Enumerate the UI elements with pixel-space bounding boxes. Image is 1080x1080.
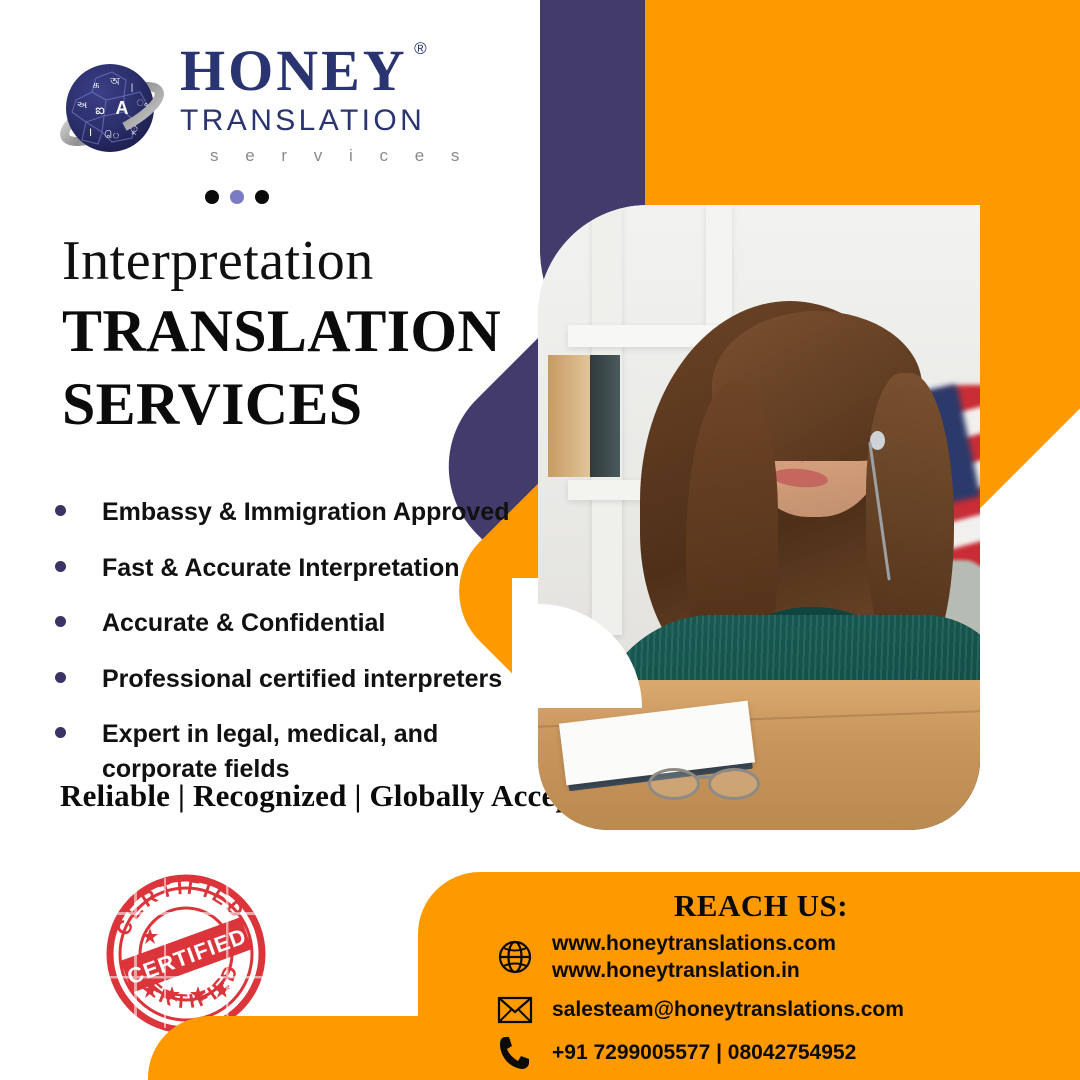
- earphone-icon: [870, 431, 885, 450]
- logo-name-primary: HONEY ®: [180, 42, 408, 100]
- bullet-dot-icon: [55, 505, 66, 516]
- svg-text:A: A: [116, 98, 129, 118]
- dot-2: [230, 190, 244, 204]
- svg-text:ఐ: ఐ: [95, 102, 104, 117]
- globe-icon: [492, 939, 538, 975]
- poster-canvas: க অ | અ ఐ A ം । ெ ু HONEY ® TRANSLATION: [0, 0, 1080, 1080]
- list-item: Accurate & Confidential: [55, 606, 555, 641]
- contact-row-email[interactable]: salesteam@honeytranslations.com: [492, 995, 1062, 1025]
- tagline: Reliable | Recognized | Globally Accepte…: [60, 778, 615, 814]
- contact-panel: REACH US: www.honeytranslations.com www.…: [418, 872, 1080, 1080]
- white-cutout-right: [985, 560, 1080, 760]
- brand-logo: க অ | અ ఐ A ം । ெ ু HONEY ® TRANSLATION: [52, 42, 472, 192]
- certified-stamp: CERTIFIED CERTIFIED CERTIFIED: [104, 872, 268, 1036]
- phone-text: +91 7299005577 | 08042754952: [552, 1039, 856, 1066]
- logo-wordmark: HONEY ® TRANSLATION s e r v i c e s: [180, 42, 470, 166]
- headline-block: Interpretation TRANSLATION SERVICES: [62, 232, 532, 436]
- svg-text:ெ: ெ: [104, 130, 119, 141]
- website-line-2[interactable]: www.honeytranslation.in: [552, 957, 836, 984]
- website-text: www.honeytranslations.com www.honeytrans…: [552, 930, 836, 985]
- logo-name-primary-text: HONEY: [180, 38, 408, 103]
- book-object: [548, 355, 590, 477]
- phone-numbers[interactable]: +91 7299005577 | 08042754952: [552, 1039, 856, 1066]
- contact-row-phone[interactable]: +91 7299005577 | 08042754952: [492, 1035, 1062, 1071]
- list-item: Professional certified interpreters: [55, 662, 555, 697]
- bullet-dot-icon: [55, 561, 66, 572]
- logo-name-secondary: TRANSLATION: [180, 106, 470, 136]
- svg-text:ം: ം: [137, 98, 148, 108]
- decorative-dots: [205, 190, 269, 204]
- svg-text:।: ।: [88, 125, 93, 139]
- headline-script-line: Interpretation: [62, 232, 532, 291]
- list-item: Embassy & Immigration Approved: [55, 495, 555, 530]
- bullet-dot-icon: [55, 672, 66, 683]
- bullet-dot-icon: [55, 616, 66, 627]
- svg-text:க: க: [92, 79, 99, 91]
- svg-text:|: |: [131, 82, 133, 92]
- hero-photo: [538, 205, 980, 830]
- svg-text:અ: અ: [77, 100, 88, 111]
- feature-label: Professional certified interpreters: [102, 662, 502, 697]
- feature-label: Expert in legal, medical, and corporate …: [102, 717, 442, 786]
- feature-label: Accurate & Confidential: [102, 606, 385, 641]
- website-line-1[interactable]: www.honeytranslations.com: [552, 930, 836, 957]
- registered-trademark-icon: ®: [414, 40, 430, 57]
- book-object: [590, 355, 620, 477]
- svg-text:অ: অ: [109, 76, 120, 88]
- dot-3: [255, 190, 269, 204]
- phone-icon: [492, 1035, 538, 1071]
- headline-bold-line-1: TRANSLATION: [62, 299, 532, 364]
- email-address[interactable]: salesteam@honeytranslations.com: [552, 996, 904, 1023]
- feature-list: Embassy & Immigration Approved Fast & Ac…: [55, 495, 555, 807]
- headline-bold-line-2: SERVICES: [62, 372, 532, 437]
- list-item: Expert in legal, medical, and corporate …: [55, 717, 555, 786]
- contact-list: www.honeytranslations.com www.honeytrans…: [492, 930, 1062, 1080]
- contact-heading: REACH US:: [418, 888, 1080, 924]
- contact-row-website[interactable]: www.honeytranslations.com www.honeytrans…: [492, 930, 1062, 985]
- feature-label: Embassy & Immigration Approved: [102, 495, 510, 530]
- list-item: Fast & Accurate Interpretation: [55, 551, 555, 586]
- dot-1: [205, 190, 219, 204]
- globe-languages-icon: க অ | અ ఐ A ം । ெ ু: [52, 52, 172, 172]
- logo-name-tertiary: s e r v i c e s: [180, 146, 470, 166]
- bullet-dot-icon: [55, 727, 66, 738]
- feature-label: Fast & Accurate Interpretation: [102, 551, 459, 586]
- envelope-icon: [492, 995, 538, 1025]
- eyeglasses-object: [648, 764, 778, 802]
- photo-corner-notch: [512, 578, 642, 708]
- email-text: salesteam@honeytranslations.com: [552, 996, 904, 1023]
